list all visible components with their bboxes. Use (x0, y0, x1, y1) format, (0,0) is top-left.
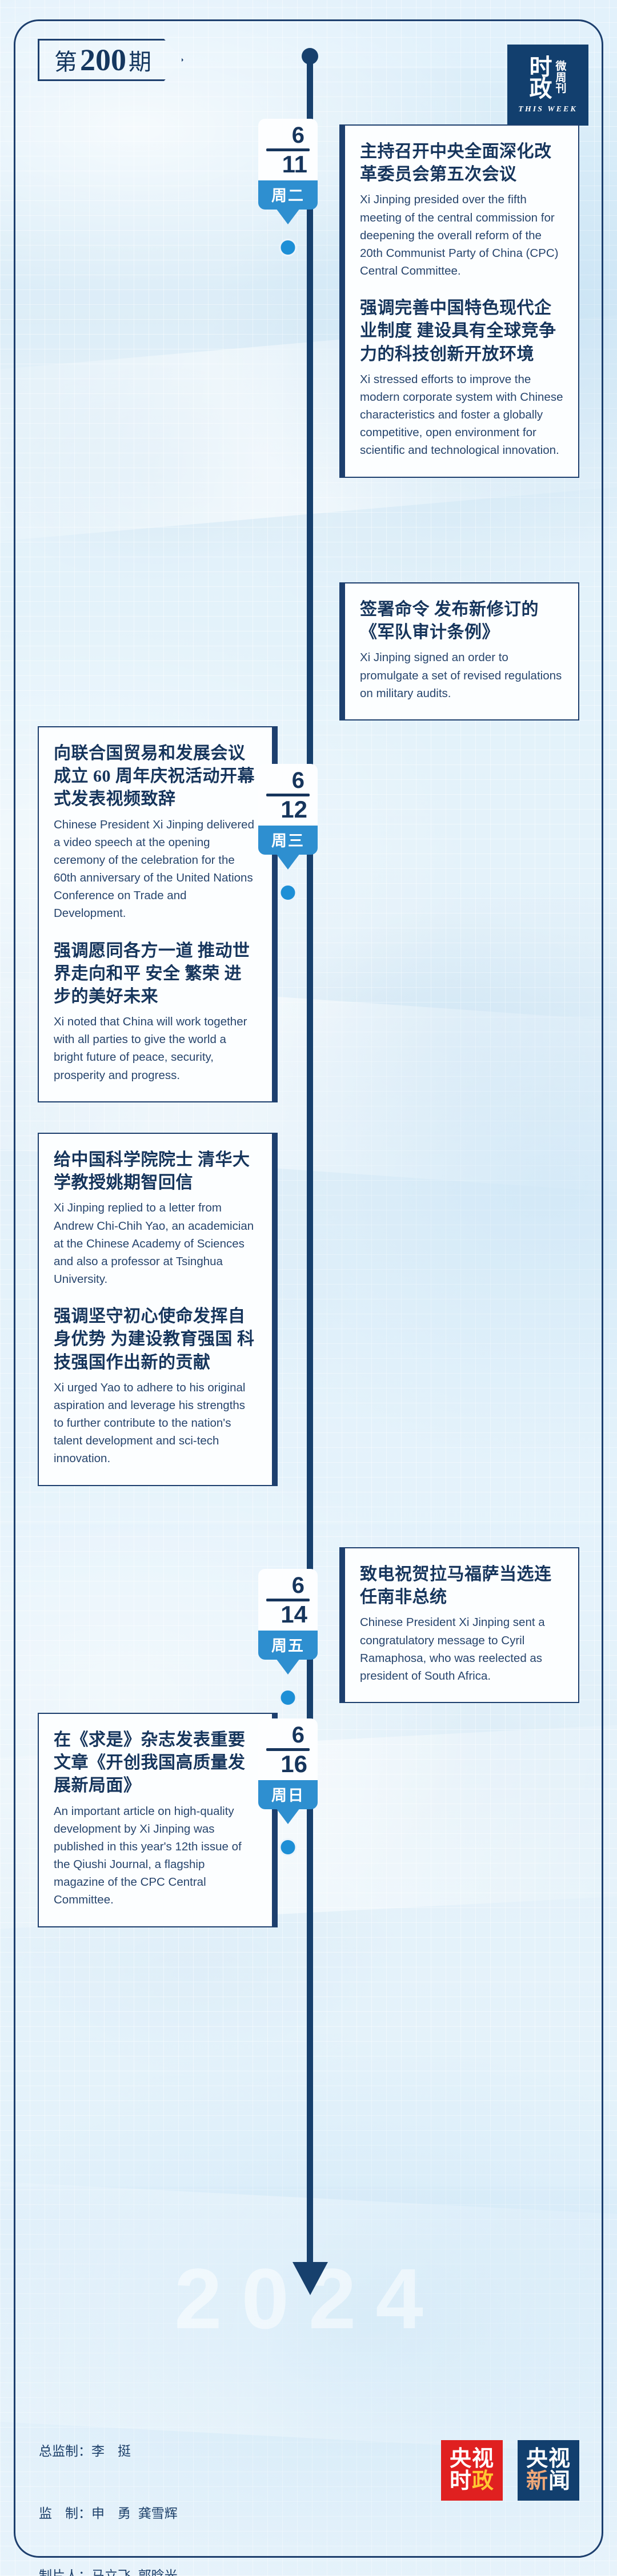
news-entry: 强调愿同各方一道 推动世界走向和平 安全 繁荣 进步的美好未来 Xi noted… (54, 940, 257, 1084)
date-chip-pointer-icon (276, 854, 300, 870)
credit-line-chief-producer: 总监制：李 挺 (39, 2441, 249, 2461)
date-day: 14 (281, 1603, 310, 1626)
cctv-zhengzhi-logo[interactable]: 央视 时政 (441, 2440, 503, 2501)
brand-logo-char-kan: 刊 (555, 83, 566, 95)
news-title: 给中国科学院院士 清华大学教授姚期智回信 (54, 1149, 257, 1194)
footer-logos: 央视 时政 央视 新闻 (441, 2440, 579, 2501)
timeline-node-dot[interactable] (279, 1838, 297, 1856)
news-entry: 给中国科学院院士 清华大学教授姚期智回信 Xi Jinping replied … (54, 1149, 257, 1288)
issue-prefix: 第 (54, 43, 78, 77)
timeline-node-dot[interactable] (279, 884, 297, 901)
news-body: Chinese President Xi Jinping sent a cong… (360, 1613, 563, 1685)
date-month: 6 (292, 126, 310, 146)
timeline-spine (307, 50, 313, 2271)
news-card-0616[interactable]: 在《求是》杂志发表重要文章《开创我国高质量发展新局面》 An important… (38, 1713, 278, 1927)
news-entry: 强调坚守初心使命发挥自身优势 为建设教育强国 科技强国作出新的贡献 Xi urg… (54, 1305, 257, 1467)
news-card-0612-yao[interactable]: 给中国科学院院士 清华大学教授姚期智回信 Xi Jinping replied … (38, 1133, 278, 1486)
news-body: Xi stressed efforts to improve the moder… (360, 371, 563, 460)
news-body: Xi Jinping signed an order to promulgate… (360, 649, 563, 702)
news-title: 签署命令 发布新修订的《军队审计条例》 (360, 598, 563, 644)
credit-line-production-lead: 制片人：马立飞 郭晗光 (39, 2565, 249, 2576)
date-chip-0614[interactable]: 6 14 周五 (258, 1569, 318, 1660)
news-card-0614[interactable]: 致电祝贺拉马福萨当选连任南非总统 Chinese President Xi Ji… (339, 1547, 579, 1703)
news-body: An important article on high-quality dev… (54, 1802, 257, 1909)
news-body: Xi Jinping replied to a letter from Andr… (54, 1199, 257, 1288)
brand-logo-characters: 时 政 微 周 刊 (529, 57, 566, 100)
news-entry: 签署命令 发布新修订的《军队审计条例》 Xi Jinping signed an… (360, 598, 563, 702)
date-chip-0611[interactable]: 6 11 周二 (258, 119, 318, 210)
news-card-0612-unctad[interactable]: 向联合国贸易和发展会议成立 60 周年庆祝活动开幕式发表视频致辞 Chinese… (38, 726, 278, 1102)
news-entry: 强调完善中国特色现代企业制度 建设具有全球竞争力的科技创新开放环境 Xi str… (360, 297, 563, 459)
news-title: 强调完善中国特色现代企业制度 建设具有全球竞争力的科技创新开放环境 (360, 297, 563, 366)
date-chip-pointer-icon (276, 208, 300, 224)
news-title: 向联合国贸易和发展会议成立 60 周年庆祝活动开幕式发表视频致辞 (54, 742, 257, 811)
issue-number: 200 (78, 45, 129, 75)
brand-logo-char-wei: 微 (555, 61, 566, 73)
cctv-zhengzhi-char-shi: 时 (450, 2469, 472, 2493)
brand-logo: 时 政 微 周 刊 THIS WEEK (507, 45, 588, 126)
timeline-node-dot[interactable] (279, 1689, 297, 1706)
brand-logo-char-zhou: 周 (555, 73, 566, 84)
date-month: 6 (292, 771, 310, 791)
cctv-zhengzhi-char-zheng: 政 (472, 2469, 494, 2493)
timeline-node-dot[interactable] (279, 239, 297, 256)
news-entry: 向联合国贸易和发展会议成立 60 周年庆祝活动开幕式发表视频致辞 Chinese… (54, 742, 257, 923)
date-day: 16 (281, 1753, 310, 1776)
news-body: Xi Jinping presided over the fifth meeti… (360, 191, 563, 280)
date-chip-box: 6 11 (258, 119, 318, 180)
cctv-xinwen-line1: 央视 (526, 2448, 571, 2470)
cctv-xinwen-char-xin: 新 (526, 2469, 548, 2493)
news-entry: 致电祝贺拉马福萨当选连任南非总统 Chinese President Xi Ji… (360, 1563, 563, 1685)
date-weekday: 周二 (258, 180, 318, 210)
brand-logo-sub: 微 周 刊 (555, 61, 566, 95)
date-chip-0612[interactable]: 6 12 周三 (258, 764, 318, 855)
issue-suffix: 期 (129, 43, 152, 77)
cctv-xinwen-char-wen: 闻 (548, 2469, 571, 2493)
date-month: 6 (292, 1725, 310, 1745)
news-entry: 在《求是》杂志发表重要文章《开创我国高质量发展新局面》 An important… (54, 1729, 257, 1909)
date-day: 11 (282, 153, 310, 176)
date-weekday: 周三 (258, 826, 318, 855)
date-chip-0616[interactable]: 6 16 周日 (258, 1718, 318, 1809)
brand-logo-english: THIS WEEK (518, 105, 577, 114)
cctv-zhengzhi-line2: 时政 (450, 2470, 494, 2493)
date-weekday: 周日 (258, 1780, 318, 1809)
credit-line-producer: 监 制：申 勇 龚雪辉 (39, 2503, 249, 2523)
news-card-military-audit[interactable]: 签署命令 发布新修订的《军队审计条例》 Xi Jinping signed an… (339, 582, 579, 721)
date-weekday: 周五 (258, 1631, 318, 1660)
brand-logo-char-zheng: 政 (529, 78, 552, 100)
news-title: 强调愿同各方一道 推动世界走向和平 安全 繁荣 进步的美好未来 (54, 940, 257, 1009)
news-body: Chinese President Xi Jinping delivered a… (54, 816, 257, 923)
cctv-zhengzhi-line1: 央视 (450, 2448, 494, 2470)
issue-badge: 第200期 (38, 39, 183, 81)
timeline-arrow-icon (293, 2262, 328, 2295)
news-title: 强调坚守初心使命发挥自身优势 为建设教育强国 科技强国作出新的贡献 (54, 1305, 257, 1374)
news-body: Xi noted that China will work together w… (54, 1013, 257, 1084)
brand-logo-char-shi: 时 (529, 57, 552, 78)
news-entry: 主持召开中央全面深化改革委员会第五次会议 Xi Jinping presided… (360, 140, 563, 280)
date-month: 6 (292, 1576, 310, 1596)
credits-block: 总监制：李 挺 监 制：申 勇 龚雪辉 制片人：马立飞 郭晗光 编 导：耿旭菲 … (39, 2399, 249, 2576)
news-body: Xi urged Yao to adhere to his original a… (54, 1379, 257, 1468)
brand-logo-main: 时 政 (529, 57, 552, 100)
cctv-xinwen-logo[interactable]: 央视 新闻 (518, 2440, 579, 2501)
news-title: 在《求是》杂志发表重要文章《开创我国高质量发展新局面》 (54, 1729, 257, 1798)
news-title: 致电祝贺拉马福萨当选连任南非总统 (360, 1563, 563, 1609)
news-card-0611[interactable]: 主持召开中央全面深化改革委员会第五次会议 Xi Jinping presided… (339, 124, 579, 478)
date-chip-box: 6 16 (258, 1718, 318, 1780)
date-chip-box: 6 14 (258, 1569, 318, 1631)
cctv-xinwen-line2: 新闻 (526, 2470, 571, 2493)
news-title: 主持召开中央全面深化改革委员会第五次会议 (360, 140, 563, 186)
date-chip-pointer-icon (276, 1659, 300, 1675)
date-day: 12 (281, 798, 310, 821)
poster-root: 2024 第200期 时 政 微 周 刊 THIS WEEK 6 11 (0, 0, 617, 2576)
date-chip-pointer-icon (276, 1808, 300, 1824)
date-chip-box: 6 12 (258, 764, 318, 826)
